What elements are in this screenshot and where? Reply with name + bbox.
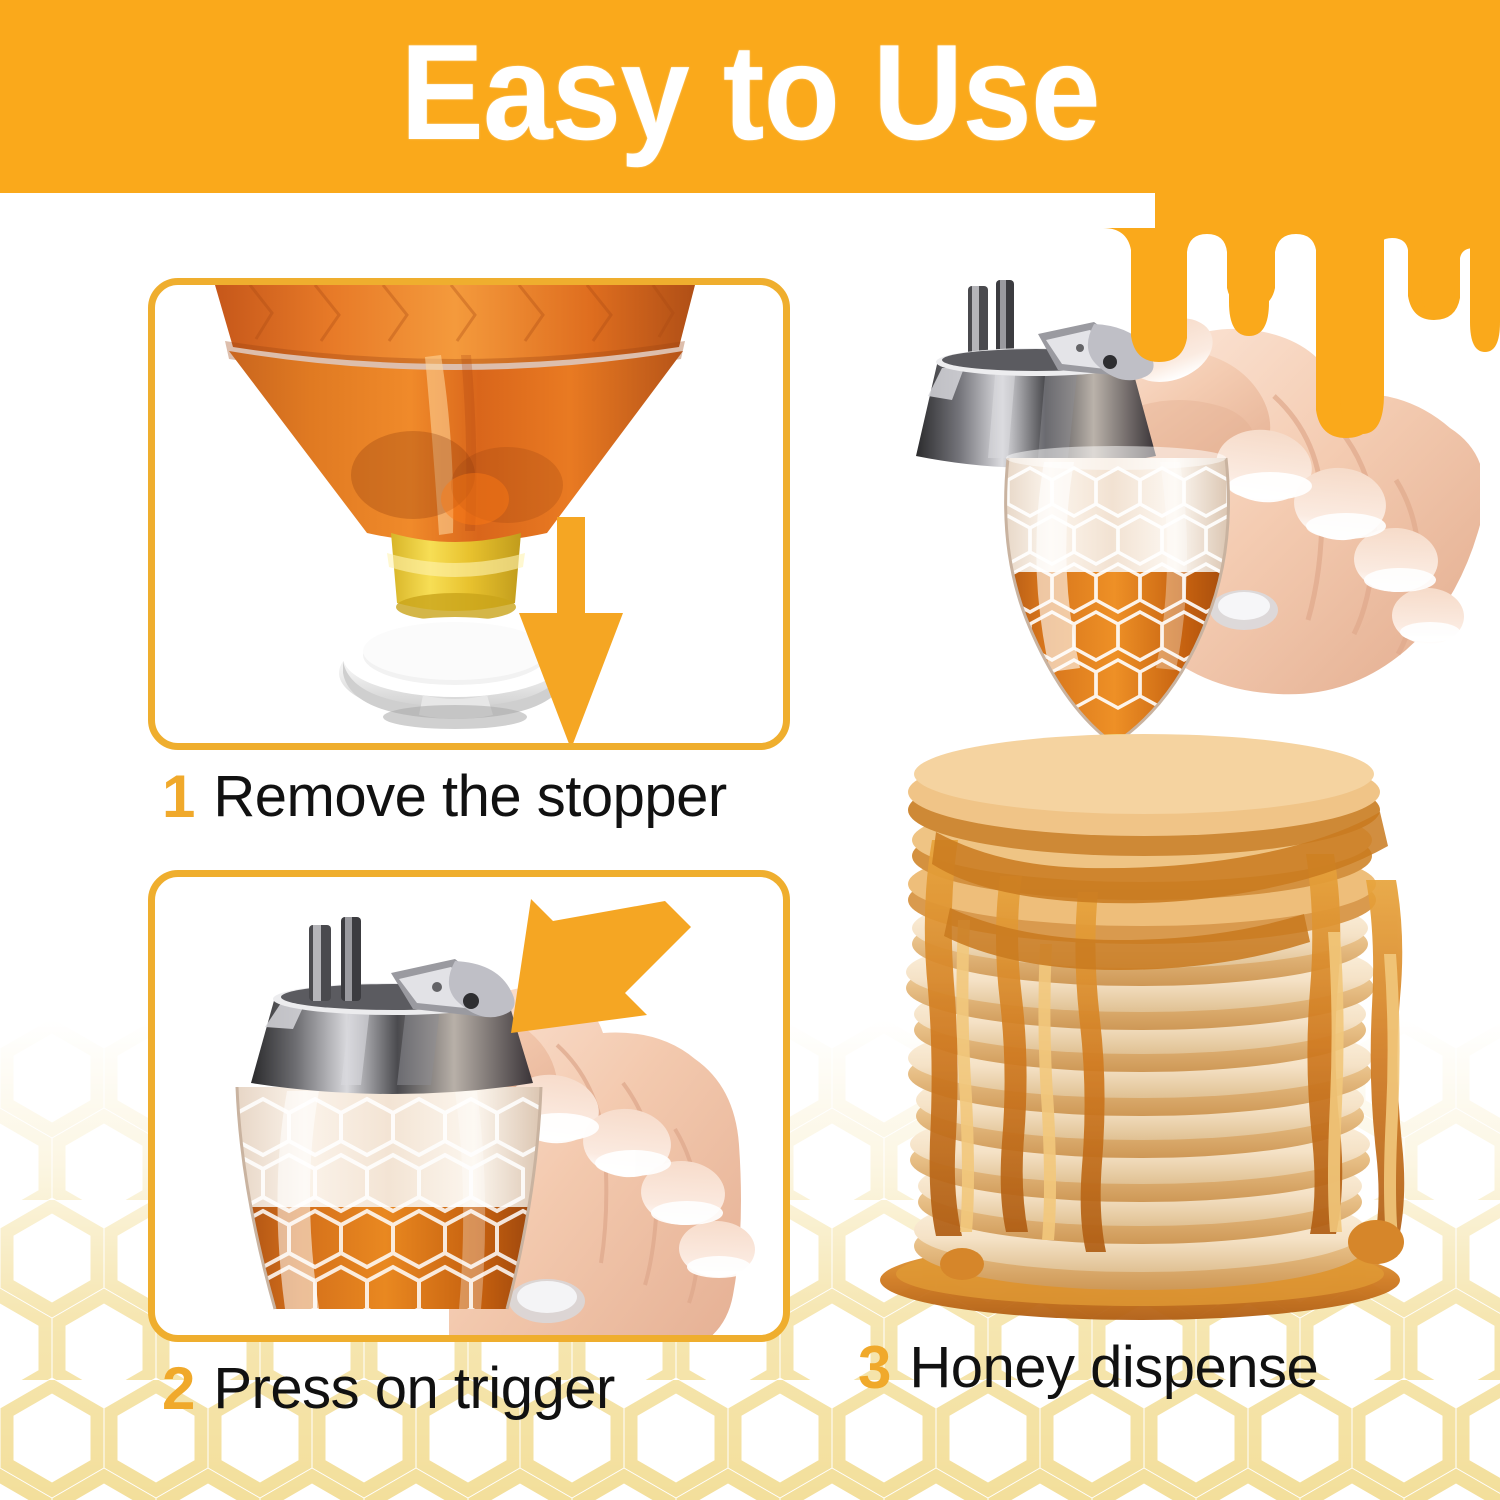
step-1-panel	[148, 278, 790, 750]
step-3-number: 3	[858, 1338, 891, 1398]
steps-column: 1 Remove the stopper	[148, 278, 790, 1430]
step-1-label: Remove the stopper	[213, 768, 726, 826]
step-3-label: Honey dispense	[909, 1339, 1318, 1397]
step-3-caption: 3 Honey dispense	[858, 1338, 1318, 1398]
dispenser-pouring-on-pancakes	[840, 280, 1480, 1340]
chrome-lid	[916, 280, 1156, 468]
step-2-panel	[148, 870, 790, 1342]
arrow-down-icon	[519, 517, 623, 743]
arrow-diagonal-down-left-icon	[511, 899, 691, 1033]
pancake-stack	[880, 734, 1404, 1320]
hand-pressing-trigger	[155, 877, 783, 1335]
step-1-number: 1	[162, 767, 195, 827]
panel-spacer	[148, 838, 790, 870]
step-2-number: 2	[162, 1359, 195, 1419]
step-2-caption: 2 Press on trigger	[148, 1348, 790, 1430]
header-banner: Easy to Use	[0, 0, 1500, 193]
step-2-label: Press on trigger	[213, 1360, 614, 1418]
step-1-caption: 1 Remove the stopper	[148, 756, 790, 838]
page-title: Easy to Use	[400, 24, 1099, 170]
jar-bottom-with-stopper	[155, 285, 783, 743]
